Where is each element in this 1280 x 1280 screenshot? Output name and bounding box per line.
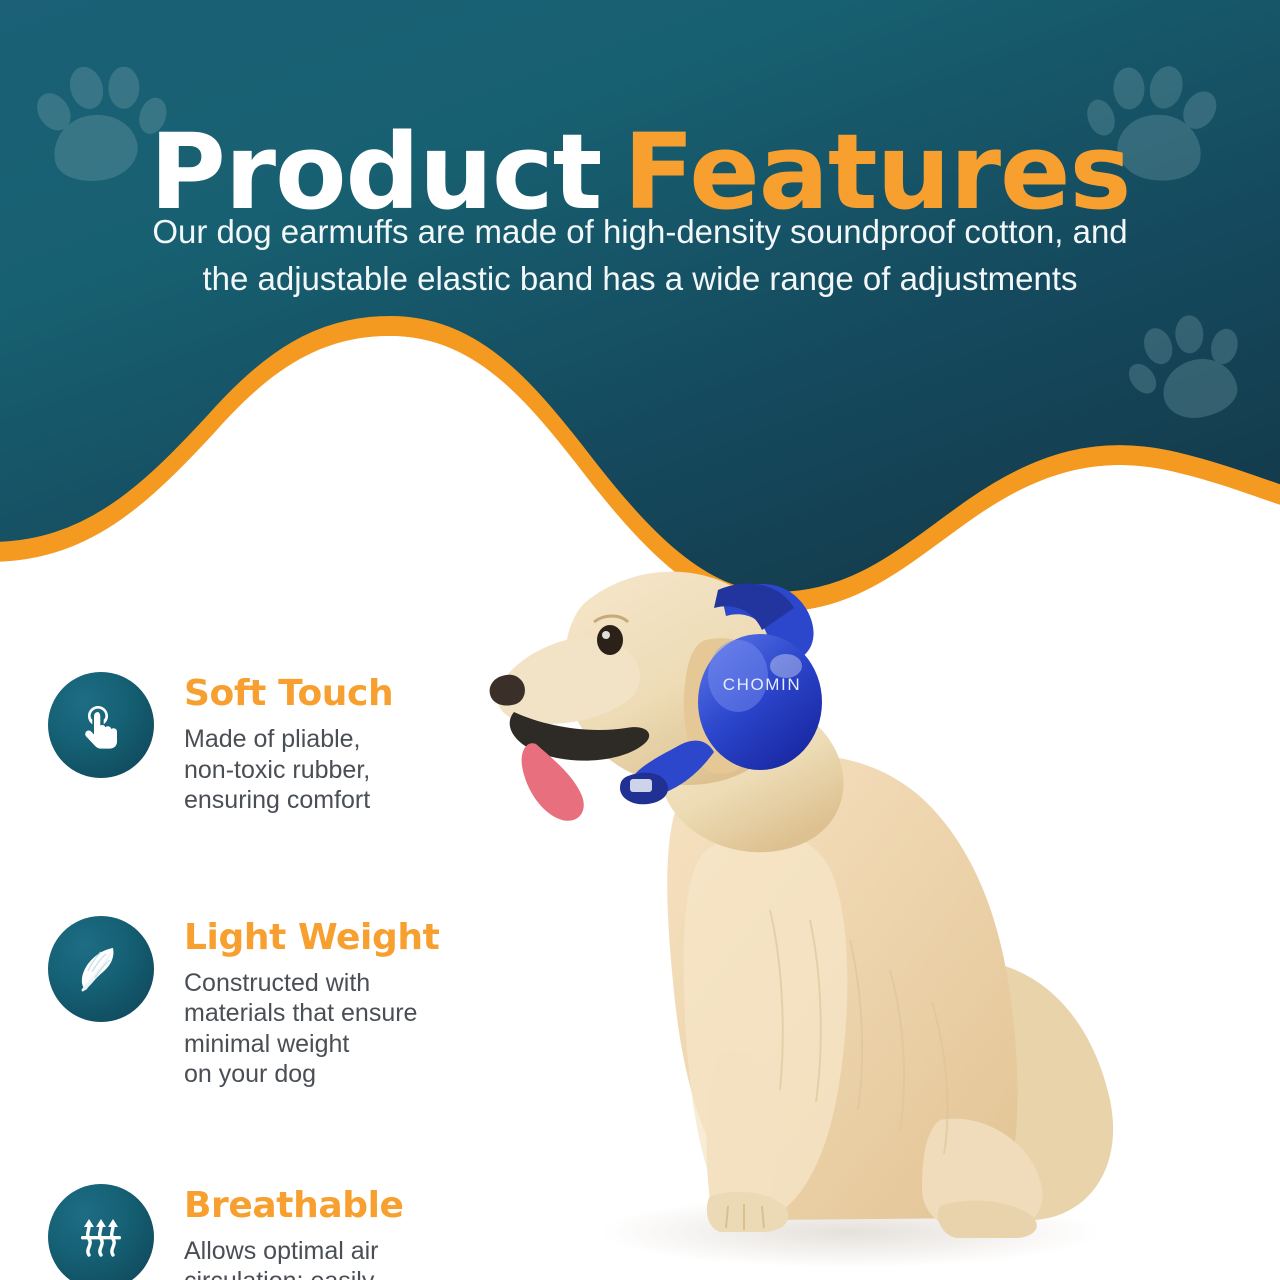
infographic-page: ProductFeatures Our dog earmuffs are mad… [0,0,1280,1280]
subtitle-line-1: Our dog earmuffs are made of high-densit… [60,209,1220,256]
feature-list: Soft Touch Made of pliable, non-toxic ru… [48,672,518,1280]
feature-desc-line: circulation; easily [184,1266,404,1280]
product-photo-dog: CHOMIN [470,490,1190,1280]
feature-desc-line: Allows optimal air [184,1236,404,1267]
feature-desc-line: on your dog [184,1059,439,1090]
feature-title: Soft Touch [184,676,393,712]
feature-item-light-weight: Light Weight Constructed with materials … [48,916,518,1090]
product-brand-label: CHOMIN [723,675,802,694]
feature-title: Light Weight [184,920,439,956]
subtitle-line-2: the adjustable elastic band has a wide r… [60,256,1220,303]
feature-text-block: Light Weight Constructed with materials … [154,916,439,1090]
hand-tap-icon [48,672,154,778]
feature-text-block: Breathable Allows optimal air circulatio… [154,1184,404,1280]
feature-desc-line: non-toxic rubber, [184,755,393,786]
feature-text-block: Soft Touch Made of pliable, non-toxic ru… [154,672,393,816]
feature-description: Made of pliable, non-toxic rubber, ensur… [184,724,393,816]
feature-desc-line: minimal weight [184,1029,439,1060]
page-subtitle: Our dog earmuffs are made of high-densit… [60,209,1220,303]
layout-spacer [48,816,518,916]
airflow-icon [48,1184,154,1280]
feather-icon [48,916,154,1022]
feature-desc-line: materials that ensure [184,998,439,1029]
feature-description: Constructed with materials that ensure m… [184,968,439,1090]
feature-desc-line: Constructed with [184,968,439,999]
feature-desc-line: ensuring comfort [184,785,393,816]
feature-title: Breathable [184,1188,404,1224]
feature-item-breathable: Breathable Allows optimal air circulatio… [48,1184,518,1280]
feature-item-soft-touch: Soft Touch Made of pliable, non-toxic ru… [48,672,518,816]
feature-desc-line: Made of pliable, [184,724,393,755]
layout-spacer [48,1090,518,1184]
feature-description: Allows optimal air circulation; easily m… [184,1236,404,1280]
